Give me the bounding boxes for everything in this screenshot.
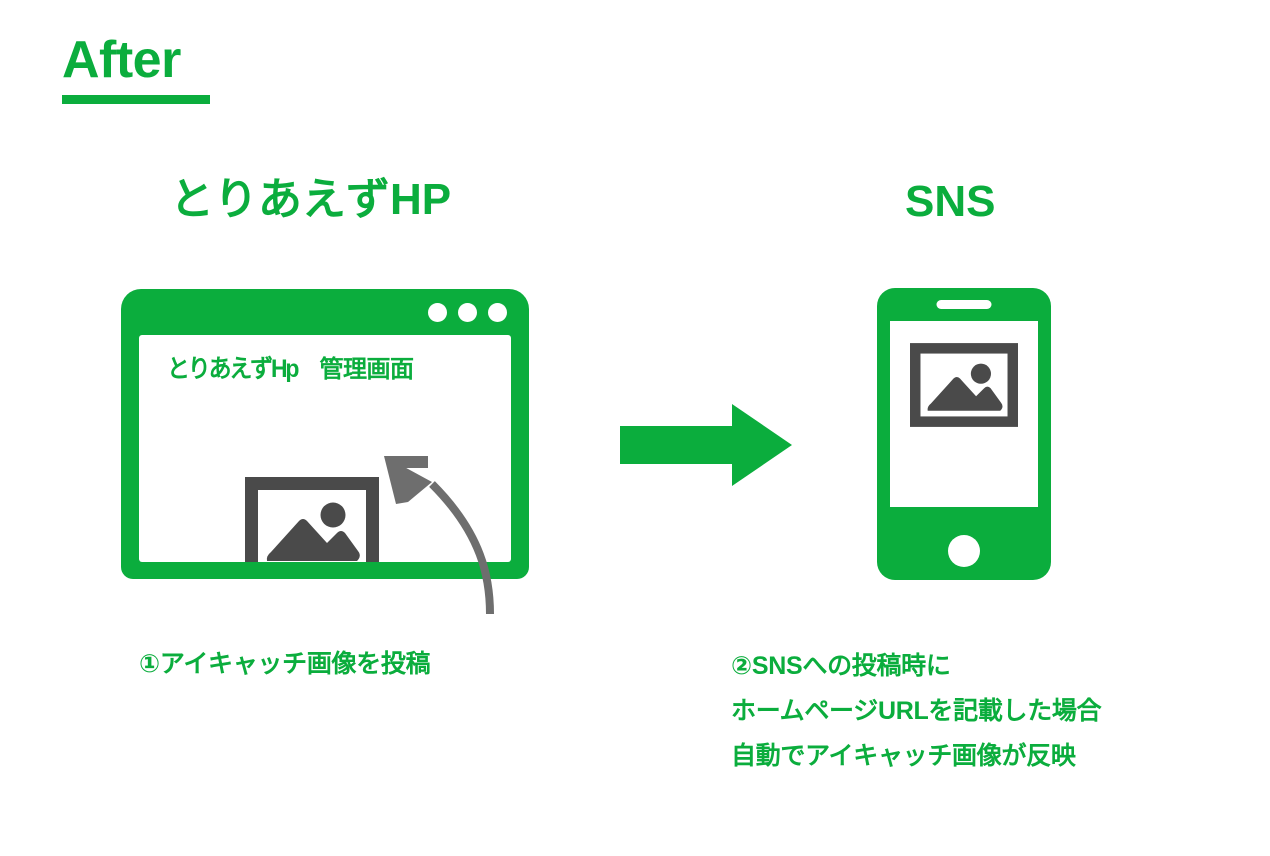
browser-window: とりあえずHp 管理画面 bbox=[121, 289, 529, 579]
admin-screen-label: 管理画面 bbox=[320, 358, 414, 382]
column-title-sns: SNS bbox=[905, 180, 995, 224]
image-placeholder-icon bbox=[910, 343, 1018, 427]
toriaezu-hp-logo: とりあえずHp bbox=[167, 357, 297, 382]
window-dot-2-icon[interactable] bbox=[458, 303, 477, 322]
browser-viewport: とりあえずHp 管理画面 bbox=[139, 335, 511, 562]
window-dot-3-icon[interactable] bbox=[488, 303, 507, 322]
speaker-slot-icon bbox=[937, 300, 992, 309]
admin-header: とりあえずHp 管理画面 bbox=[167, 357, 414, 382]
caption-step-1: ①アイキャッチ画像を投稿 bbox=[139, 652, 430, 677]
home-button-icon[interactable] bbox=[948, 535, 980, 567]
heading-underline bbox=[62, 95, 210, 104]
caption-step-2-line-3: 自動でアイキャッチ画像が反映 bbox=[731, 744, 1101, 769]
smartphone-device bbox=[877, 288, 1051, 580]
page-title: After bbox=[62, 34, 210, 86]
flow-arrow bbox=[620, 404, 792, 491]
browser-titlebar bbox=[121, 289, 529, 335]
column-title-hp: とりあえずHP bbox=[170, 178, 451, 222]
image-placeholder-icon bbox=[245, 477, 379, 562]
right-arrow-icon bbox=[620, 404, 792, 486]
caption-step-2-line-1: ②SNSへの投稿時に bbox=[731, 654, 1101, 679]
phone-eyecatch-image[interactable] bbox=[910, 343, 1018, 427]
caption-step-2: ②SNSへの投稿時に ホームページURLを記載した場合 自動でアイキャッチ画像が… bbox=[731, 654, 1101, 769]
window-controls bbox=[428, 303, 507, 322]
slide-canvas: After とりあえずHP SNS とりあえずHp 管理画面 bbox=[0, 0, 1270, 856]
caption-step-2-line-2: ホームページURLを記載した場合 bbox=[731, 699, 1101, 724]
browser-eyecatch-image[interactable] bbox=[245, 477, 379, 562]
caption-step-1-line: ①アイキャッチ画像を投稿 bbox=[139, 652, 430, 677]
phone-viewport bbox=[890, 321, 1038, 507]
section-heading: After bbox=[62, 34, 210, 104]
window-dot-1-icon[interactable] bbox=[428, 303, 447, 322]
